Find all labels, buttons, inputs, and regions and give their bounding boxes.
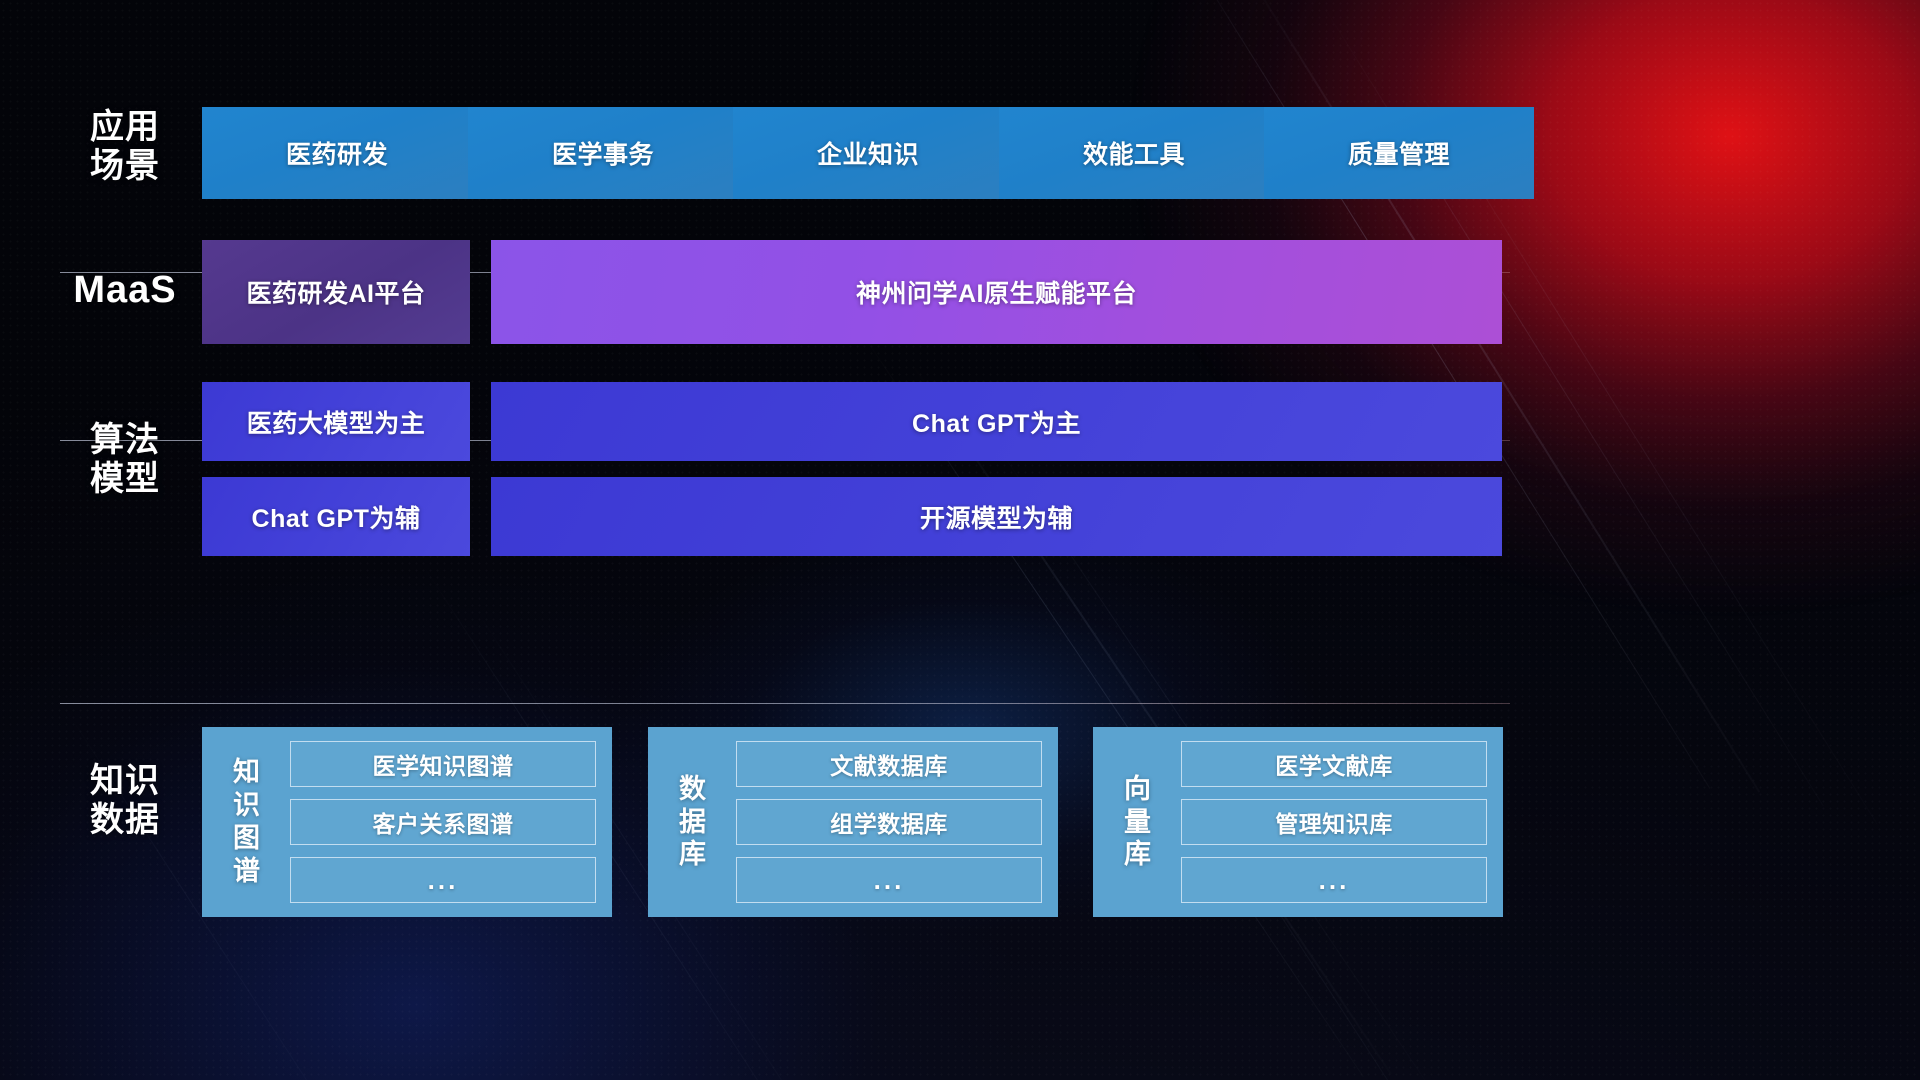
app-scenario-box-1[interactable]: 医药研发 [202,107,472,199]
algo-label-row1-right: Chat GPT为主 [912,404,1081,440]
app-scenario-box-5[interactable]: 质量管理 [1264,107,1534,199]
knowledge-item-vs-1[interactable]: 医学文献库 [1181,741,1487,787]
maas-box-pharma-ai-platform[interactable]: 医药研发AI平台 [202,240,470,344]
knowledge-panel-title-knowledge-graph: 知 识 图 谱 [216,741,278,903]
knowledge-item-db-2[interactable]: 组学数据库 [736,799,1042,845]
knowledge-panel-database[interactable]: 数 据 库 文献数据库 组学数据库 ... [648,727,1058,917]
maas-label-pharma-ai-platform: 医药研发AI平台 [246,274,425,310]
knowledge-item-kg-3[interactable]: ... [290,857,596,903]
app-scenario-label-3: 企业知识 [817,135,919,171]
app-scenario-box-2[interactable]: 医学事务 [468,107,738,199]
maas-label-shenzhou-wenxue-platform: 神州问学AI原生赋能平台 [856,274,1137,310]
algo-box-row1-right[interactable]: Chat GPT为主 [491,382,1502,461]
algo-label-row1-left: 医药大模型为主 [247,404,426,440]
knowledge-item-db-1[interactable]: 文献数据库 [736,741,1042,787]
algo-label-row2-right: 开源模型为辅 [920,499,1073,535]
app-scenario-label-4: 效能工具 [1083,135,1185,171]
algo-label-row2-left: Chat GPT为辅 [252,499,421,535]
maas-box-shenzhou-wenxue-platform[interactable]: 神州问学AI原生赋能平台 [491,240,1502,344]
app-scenario-box-4[interactable]: 效能工具 [999,107,1269,199]
knowledge-item-kg-1[interactable]: 医学知识图谱 [290,741,596,787]
knowledge-panel-title-database: 数 据 库 [662,741,724,903]
app-scenario-label-5: 质量管理 [1348,135,1450,171]
app-scenario-label-1: 医药研发 [286,135,388,171]
knowledge-item-vs-2[interactable]: 管理知识库 [1181,799,1487,845]
row-label-application-scenarios: 应用 场景 [60,108,190,187]
app-scenario-label-2: 医学事务 [552,135,654,171]
knowledge-panel-title-vector-store: 向 量 库 [1107,741,1169,903]
algo-box-row2-right[interactable]: 开源模型为辅 [491,477,1502,556]
knowledge-panel-items-database: 文献数据库 组学数据库 ... [736,741,1042,903]
row-label-algorithm-models: 算法 模型 [60,421,190,500]
app-scenario-box-3[interactable]: 企业知识 [733,107,1003,199]
algo-box-row2-left[interactable]: Chat GPT为辅 [202,477,470,556]
architecture-diagram: 应用 场景 医药研发 医学事务 企业知识 效能工具 质量管理 MaaS 医药研发… [0,0,1920,1080]
knowledge-panel-items-vector-store: 医学文献库 管理知识库 ... [1181,741,1487,903]
knowledge-item-db-3[interactable]: ... [736,857,1042,903]
knowledge-item-vs-3[interactable]: ... [1181,857,1487,903]
row-label-knowledge-data: 知识 数据 [60,762,190,841]
knowledge-panel-items-knowledge-graph: 医学知识图谱 客户关系图谱 ... [290,741,596,903]
knowledge-item-kg-2[interactable]: 客户关系图谱 [290,799,596,845]
divider-3 [60,703,1510,704]
row-label-maas: MaaS [60,268,190,312]
knowledge-panel-knowledge-graph[interactable]: 知 识 图 谱 医学知识图谱 客户关系图谱 ... [202,727,612,917]
algo-box-row1-left[interactable]: 医药大模型为主 [202,382,470,461]
knowledge-panel-vector-store[interactable]: 向 量 库 医学文献库 管理知识库 ... [1093,727,1503,917]
